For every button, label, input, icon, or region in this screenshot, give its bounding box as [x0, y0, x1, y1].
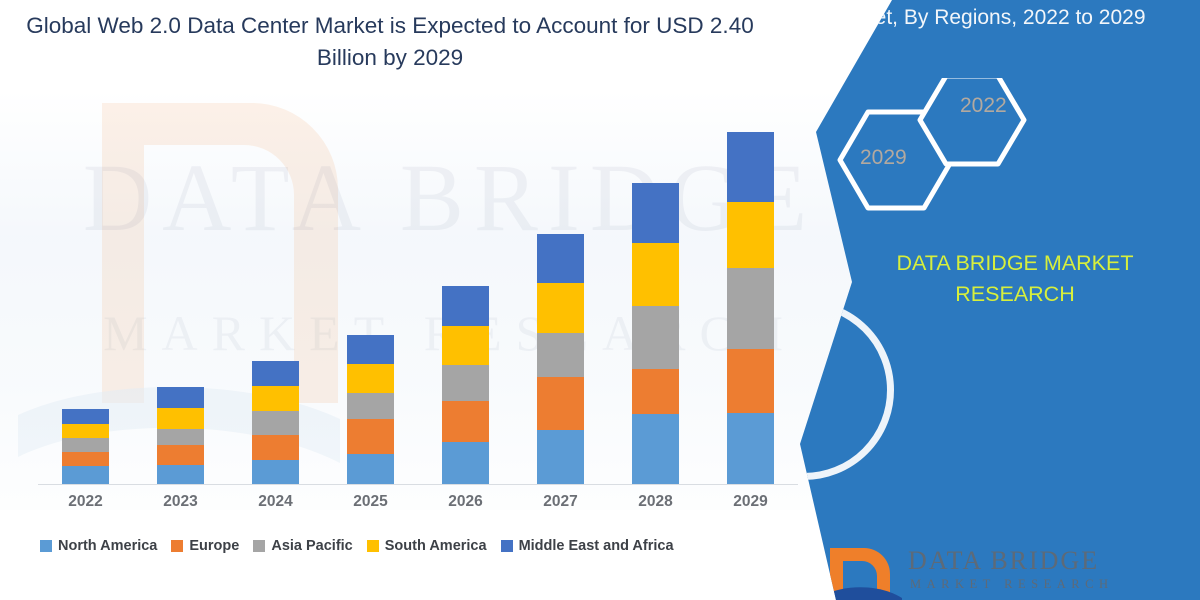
bar-segment: [62, 409, 109, 423]
legend-swatch-icon: [171, 540, 183, 552]
x-tick-label-2028: 2028: [621, 493, 691, 511]
bar-segment: [252, 460, 299, 484]
legend-item-north-america[interactable]: North America: [40, 538, 157, 554]
bar-2026: [442, 286, 489, 484]
page-title: Global Web 2.0 Data Center Market is Exp…: [20, 10, 760, 74]
chart-legend: North AmericaEuropeAsia PacificSouth Ame…: [40, 538, 800, 554]
x-tick-label-2024: 2024: [241, 493, 311, 511]
bar-segment: [347, 419, 394, 453]
bar-segment: [727, 132, 774, 202]
legend-swatch-icon: [253, 540, 265, 552]
brand-line-1: DATA BRIDGE MARKET: [830, 248, 1200, 279]
hex-label-2022: 2022: [960, 94, 1007, 118]
x-tick-label-2027: 2027: [526, 493, 596, 511]
bar-segment: [632, 243, 679, 306]
bar-segment: [442, 326, 489, 365]
bar-segment: [442, 401, 489, 441]
bar-2022: [62, 409, 109, 484]
bar-segment: [727, 268, 774, 349]
corner-logo-subtitle: MARKET RESEARCH: [910, 577, 1113, 592]
bar-segment: [157, 387, 204, 408]
bar-2027: [537, 234, 584, 484]
bar-segment: [632, 306, 679, 370]
legend-label: Asia Pacific: [271, 538, 352, 554]
bar-segment: [632, 183, 679, 243]
legend-swatch-icon: [40, 540, 52, 552]
bar-segment: [537, 377, 584, 429]
bar-segment: [727, 202, 774, 269]
bar-segment: [442, 286, 489, 325]
plot-area: [38, 120, 798, 485]
corner-logo-name: DATA BRIDGE: [908, 546, 1099, 576]
bar-segment: [347, 454, 394, 484]
chart-pane: DATA BRIDGE MARKET RESEARCH Global Web 2…: [0, 0, 900, 600]
bar-segment: [347, 335, 394, 364]
bar-segment: [537, 430, 584, 484]
right-blue-panel: Market, By Regions, 2022 to 2029 2022 20…: [800, 0, 1200, 600]
x-axis-labels: 20222023202420252026202720282029: [38, 493, 798, 519]
legend-label: South America: [385, 538, 487, 554]
bar-segment: [442, 442, 489, 484]
bar-segment: [727, 349, 774, 414]
legend-label: Middle East and Africa: [519, 538, 674, 554]
bar-segment: [537, 333, 584, 377]
bar-2024: [252, 361, 299, 484]
axis-baseline: [38, 484, 798, 485]
x-tick-label-2026: 2026: [431, 493, 501, 511]
bar-segment: [62, 424, 109, 438]
stacked-bar-chart: [38, 120, 798, 485]
bar-segment: [62, 452, 109, 466]
bar-segment: [252, 435, 299, 460]
x-tick-label-2029: 2029: [716, 493, 786, 511]
bar-segment: [62, 438, 109, 452]
bar-segment: [157, 445, 204, 465]
hexagon-badges: 2022 2029: [800, 78, 1200, 248]
bar-segment: [632, 369, 679, 414]
bar-2028: [632, 183, 679, 484]
bar-segment: [442, 365, 489, 401]
legend-item-south-america[interactable]: South America: [367, 538, 487, 554]
bar-segment: [62, 466, 109, 484]
legend-label: North America: [58, 538, 157, 554]
bar-2023: [157, 387, 204, 484]
brand-line-2: RESEARCH: [830, 279, 1200, 310]
infographic-root: DATA BRIDGE MARKET RESEARCH Global Web 2…: [0, 0, 1200, 600]
bar-segment: [537, 234, 584, 283]
legend-item-asia-pacific[interactable]: Asia Pacific: [253, 538, 352, 554]
brand-name: DATA BRIDGE MARKET RESEARCH: [800, 248, 1200, 309]
legend-label: Europe: [189, 538, 239, 554]
bar-segment: [157, 408, 204, 428]
legend-swatch-icon: [501, 540, 513, 552]
legend-item-middle-east-and-africa[interactable]: Middle East and Africa: [501, 538, 674, 554]
x-tick-label-2025: 2025: [336, 493, 406, 511]
bar-segment: [347, 393, 394, 419]
bar-segment: [632, 414, 679, 484]
legend-swatch-icon: [367, 540, 379, 552]
bar-2025: [347, 335, 394, 484]
bar-segment: [537, 283, 584, 332]
x-tick-label-2022: 2022: [51, 493, 121, 511]
legend-item-europe[interactable]: Europe: [171, 538, 239, 554]
bar-segment: [347, 364, 394, 393]
bar-segment: [727, 413, 774, 484]
bar-segment: [252, 361, 299, 386]
bar-segment: [252, 386, 299, 411]
bar-segment: [157, 465, 204, 484]
hex-label-2029: 2029: [860, 146, 907, 170]
x-tick-label-2023: 2023: [146, 493, 216, 511]
bar-segment: [157, 429, 204, 445]
corner-logo: DATA BRIDGE MARKET RESEARCH: [822, 544, 1182, 600]
bar-2029: [727, 132, 774, 484]
bar-segment: [252, 411, 299, 434]
